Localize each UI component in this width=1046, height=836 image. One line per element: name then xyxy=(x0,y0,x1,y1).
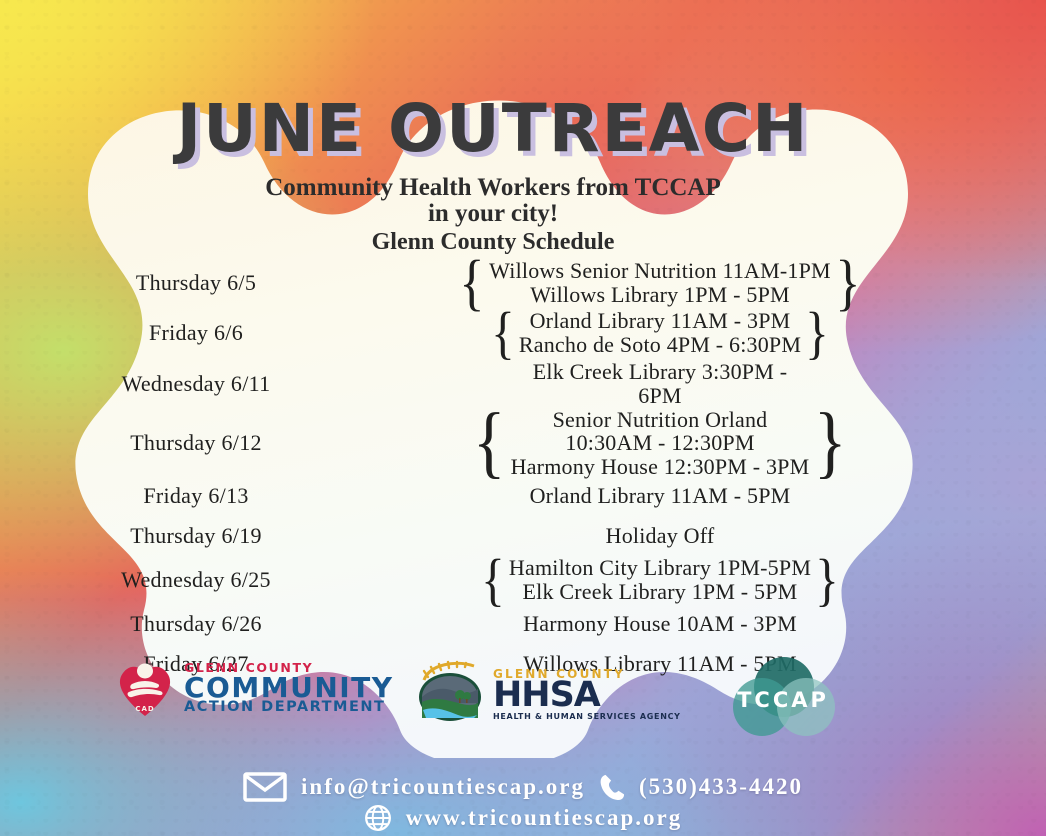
poster-canvas: JUNE OUTREACH Community Health Workers f… xyxy=(0,0,1046,836)
schedule-event-text: Harmony House 10AM - 3PM xyxy=(523,612,797,636)
footer-contact-bar: info@tricountiescap.org (530)433-4420 ww… xyxy=(0,772,1046,832)
brace-close-icon: } xyxy=(835,258,860,309)
partner-logo-strip: CAD GLENN COUNTY COMMUNITY ACTION DEPART… xyxy=(26,656,960,740)
subtitle-line-1: Community Health Workers from TCCAP xyxy=(26,175,960,201)
logo-glenn-county-hhsa: GLENN COUNTY HHSA HEALTH & HUMAN SERVICE… xyxy=(414,660,681,729)
schedule-row: Wednesday 6/25 { Hamilton City Library 1… xyxy=(26,556,960,604)
footer-row-secondary: www.tricountiescap.org xyxy=(0,804,1046,832)
schedule-date: Friday 6/13 xyxy=(26,483,366,509)
schedule-date: Wednesday 6/25 xyxy=(26,567,366,593)
schedule-date: Thursday 6/12 xyxy=(26,430,366,456)
schedule-events: { Hamilton City Library 1PM-5PM Elk Cree… xyxy=(366,556,960,604)
schedule-date: Thursday 6/26 xyxy=(26,611,366,637)
svg-text:CAD: CAD xyxy=(135,705,154,713)
schedule-list: Thursday 6/5 { Willows Senior Nutrition … xyxy=(26,258,960,684)
brace-open-icon: { xyxy=(460,258,485,309)
heart-hands-icon: CAD xyxy=(114,658,176,718)
schedule-events: { Orland Library 11AM - 3PM Rancho de So… xyxy=(366,309,960,357)
schedule-events: Holiday Off xyxy=(366,524,960,548)
footer-phone[interactable]: (530)433-4420 xyxy=(639,774,803,800)
schedule-event-text: Orland Library 11AM - 5PM xyxy=(530,484,791,508)
three-circles-icon: TCCAP xyxy=(718,654,848,740)
schedule-date: Thursday 6/19 xyxy=(26,523,366,549)
schedule-event-text: Senior Nutrition Orland 10:30AM - 12:30P… xyxy=(511,408,810,479)
schedule-event-text: Elk Creek Library 3:30PM - 6PM xyxy=(533,360,787,407)
section-heading: Glenn County Schedule xyxy=(26,229,960,256)
county-landscape-seal-icon xyxy=(414,660,486,729)
logo-tccap: TCCAP xyxy=(718,654,848,740)
cad-line-2: COMMUNITY xyxy=(184,674,394,702)
schedule-events: Elk Creek Library 3:30PM - 6PM xyxy=(366,360,960,407)
scalloped-cream-card: JUNE OUTREACH Community Health Workers f… xyxy=(26,44,960,758)
schedule-events: Harmony House 10AM - 3PM xyxy=(366,612,960,636)
schedule-date: Friday 6/6 xyxy=(26,320,366,346)
hhsa-wordmark: GLENN COUNTY HHSA HEALTH & HUMAN SERVICE… xyxy=(493,668,681,721)
footer-website[interactable]: www.tricountiescap.org xyxy=(406,805,683,831)
schedule-date: Thursday 6/5 xyxy=(26,270,366,296)
globe-icon xyxy=(364,804,392,832)
brace-open-icon: { xyxy=(491,309,515,357)
brace-close-icon: } xyxy=(815,556,839,604)
cad-line-3: ACTION DEPARTMENT xyxy=(184,700,394,715)
schedule-event-text: Willows Senior Nutrition 11AM-1PM Willow… xyxy=(489,259,831,306)
brace-close-icon: } xyxy=(805,309,829,357)
schedule-events: { Willows Senior Nutrition 11AM-1PM Will… xyxy=(366,258,960,309)
schedule-date: Wednesday 6/11 xyxy=(26,371,366,397)
footer-email[interactable]: info@tricountiescap.org xyxy=(301,774,585,800)
schedule-event-text: Hamilton City Library 1PM-5PM Elk Creek … xyxy=(509,556,811,603)
schedule-event-text: Orland Library 11AM - 3PM Rancho de Soto… xyxy=(519,309,801,356)
brace-open-icon: { xyxy=(473,410,506,476)
hhsa-line-3: HEALTH & HUMAN SERVICES AGENCY xyxy=(493,713,681,721)
schedule-row: Friday 6/6 { Orland Library 11AM - 3PM R… xyxy=(26,308,960,358)
phone-icon xyxy=(599,773,625,801)
logo-community-action-department: CAD GLENN COUNTY COMMUNITY ACTION DEPART… xyxy=(114,658,394,718)
schedule-events: { Senior Nutrition Orland 10:30AM - 12:3… xyxy=(366,408,960,479)
footer-row-primary: info@tricountiescap.org (530)433-4420 xyxy=(0,772,1046,802)
svg-text:TCCAP: TCCAP xyxy=(737,688,829,712)
page-title: JUNE OUTREACH xyxy=(26,96,960,162)
brace-close-icon: } xyxy=(814,410,847,476)
cad-wordmark: GLENN COUNTY COMMUNITY ACTION DEPARTMENT xyxy=(184,662,394,714)
schedule-row: Thursday 6/12 { Senior Nutrition Orland … xyxy=(26,410,960,476)
brace-open-icon: { xyxy=(481,556,505,604)
hhsa-line-2: HHSA xyxy=(493,678,681,713)
subtitle-line-2: in your city! xyxy=(26,201,960,227)
schedule-event-text: Holiday Off xyxy=(606,524,715,548)
envelope-icon xyxy=(243,772,287,802)
subtitle: Community Health Workers from TCCAP in y… xyxy=(26,175,960,227)
schedule-events: Orland Library 11AM - 5PM xyxy=(366,484,960,508)
